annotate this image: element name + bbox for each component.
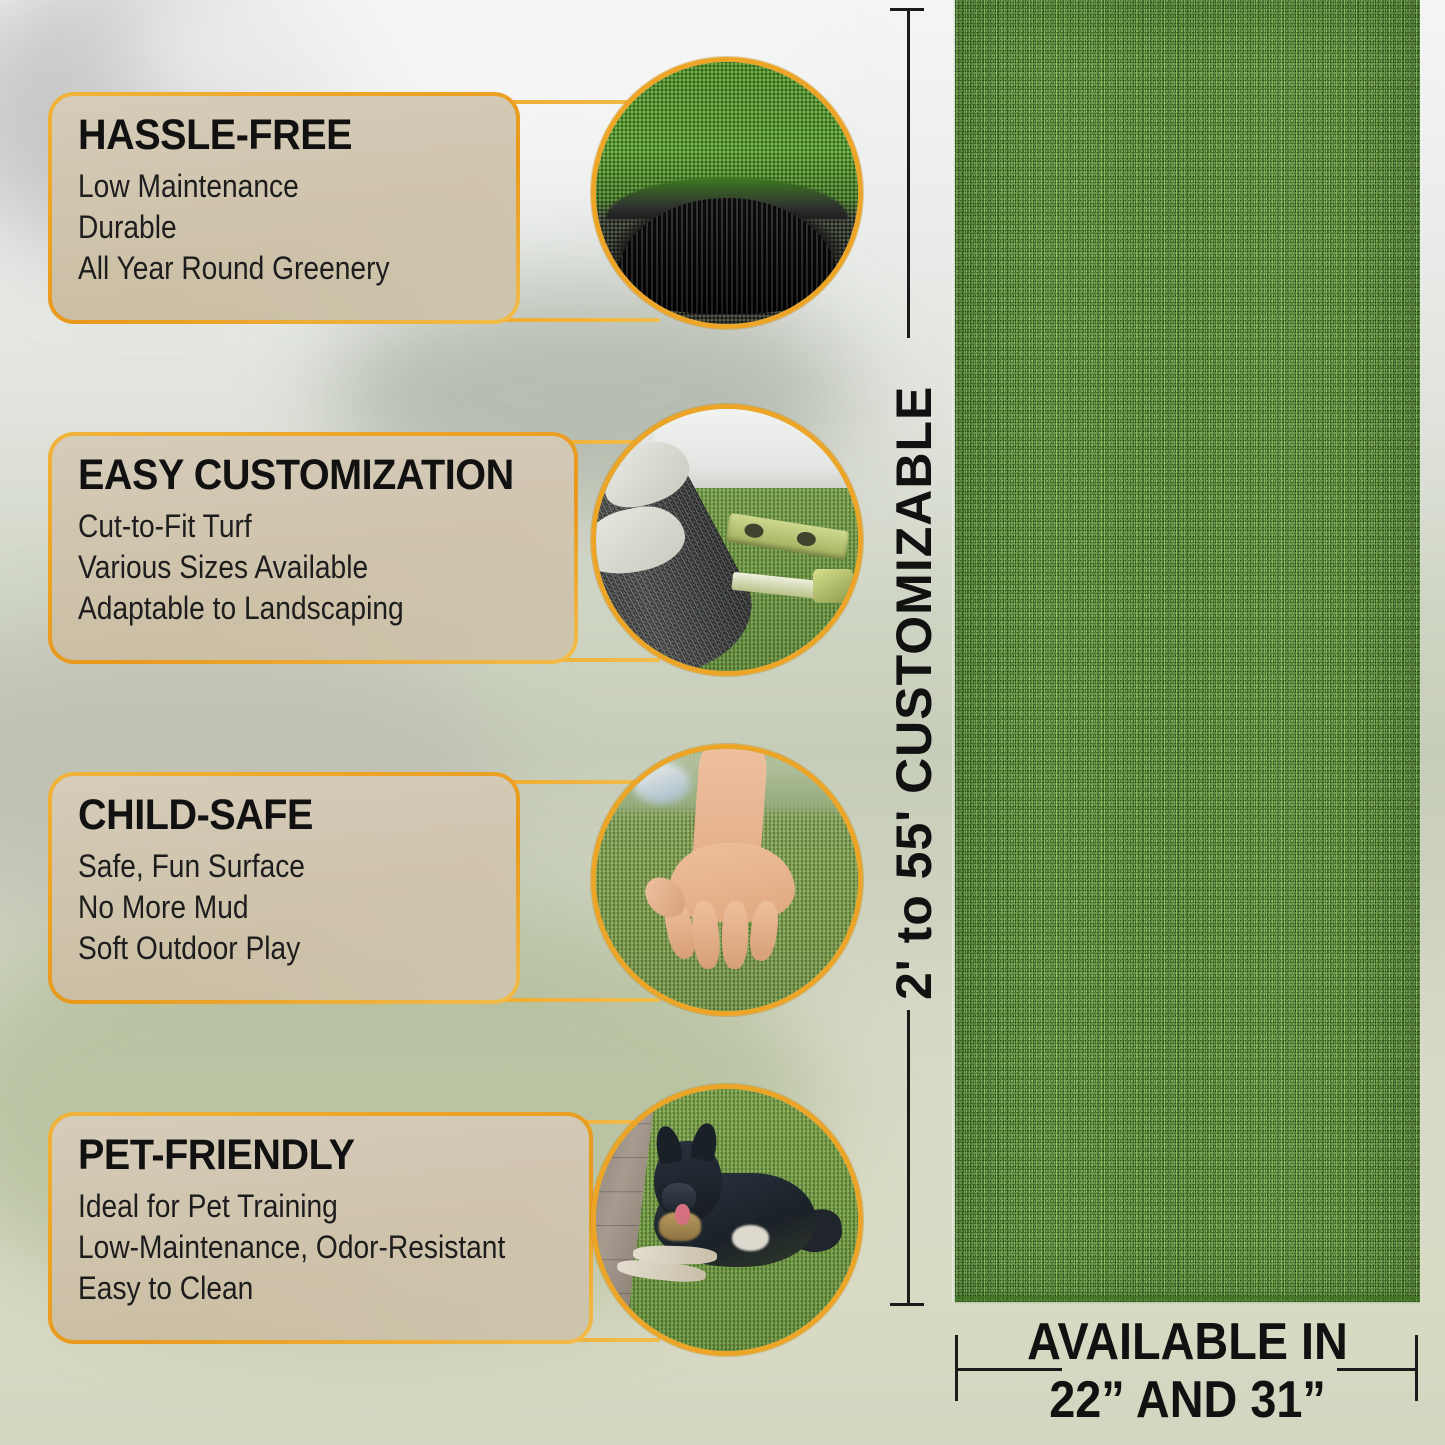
- width-dimension-cap-right: [1415, 1335, 1418, 1401]
- feature-line-pet-friendly-1: Ideal for Pet Training: [78, 1186, 507, 1227]
- feature-card-hassle-free[interactable]: HASSLE-FREE Low Maintenance Durable All …: [48, 92, 520, 324]
- width-dimension-line-right: [1337, 1368, 1417, 1371]
- feature-card-easy-customization[interactable]: EASY CUSTOMIZATION Cut-to-Fit Turf Vario…: [48, 432, 578, 664]
- feature-line-child-safe-1: Safe, Fun Surface: [78, 846, 442, 887]
- turf-roll-photo: [591, 57, 863, 329]
- feature-title-pet-friendly: PET-FRIENDLY: [78, 1134, 526, 1178]
- feature-line-hassle-free-3: All Year Round Greenery: [78, 248, 442, 289]
- turf-installation-photo: [591, 404, 863, 676]
- feature-card-child-safe[interactable]: CHILD-SAFE Safe, Fun Surface No More Mud…: [48, 772, 520, 1004]
- length-dimension-line-bottom: [907, 1010, 910, 1306]
- feature-line-pet-friendly-3: Easy to Clean: [78, 1268, 507, 1309]
- background-ball: [633, 762, 691, 804]
- feature-line-child-safe-2: No More Mud: [78, 887, 442, 928]
- feature-title-child-safe: CHILD-SAFE: [78, 794, 459, 838]
- feature-line-easy-customization-1: Cut-to-Fit Turf: [78, 506, 493, 547]
- feature-line-hassle-free-1: Low Maintenance: [78, 166, 442, 207]
- turf-strip-bottom-edge: [955, 1296, 1420, 1304]
- width-dimension-label-line2: 22” AND 31”: [978, 1374, 1397, 1426]
- feature-title-hassle-free: HASSLE-FREE: [78, 114, 459, 158]
- dog-chest-marking: [732, 1225, 769, 1251]
- turf-strip: [955, 0, 1420, 1302]
- feature-line-child-safe-3: Soft Outdoor Play: [78, 928, 442, 969]
- feature-card-pet-friendly[interactable]: PET-FRIENDLY Ideal for Pet Training Low-…: [48, 1112, 593, 1344]
- tape-measure-body: [813, 569, 852, 603]
- dog-tongue: [675, 1204, 691, 1225]
- length-dimension-label: 2' to 55' CUSTOMIZABLE: [885, 386, 943, 1000]
- infographic-canvas: 2' to 55' CUSTOMIZABLE AVAILABLE IN 22” …: [0, 0, 1445, 1445]
- paver-walkway: [591, 1089, 656, 1351]
- width-dimension-cap-left: [955, 1335, 958, 1401]
- feature-line-pet-friendly-2: Low-Maintenance, Odor-Resistant: [78, 1227, 507, 1268]
- dog-ear-left: [653, 1124, 684, 1165]
- dog-on-turf-photo: [591, 1084, 863, 1356]
- child-finger-3: [721, 901, 748, 970]
- feature-line-hassle-free-2: Durable: [78, 207, 442, 248]
- feature-line-easy-customization-2: Various Sizes Available: [78, 547, 493, 588]
- width-dimension-label-line1: AVAILABLE IN: [978, 1316, 1397, 1368]
- feature-title-easy-customization: EASY CUSTOMIZATION: [78, 454, 512, 498]
- feature-line-easy-customization-3: Adaptable to Landscaping: [78, 588, 493, 629]
- length-dimension-line-top: [907, 8, 910, 338]
- length-dimension-cap-top: [890, 8, 924, 11]
- child-hand-photo: [591, 744, 863, 1016]
- length-dimension-cap-bottom: [890, 1303, 924, 1306]
